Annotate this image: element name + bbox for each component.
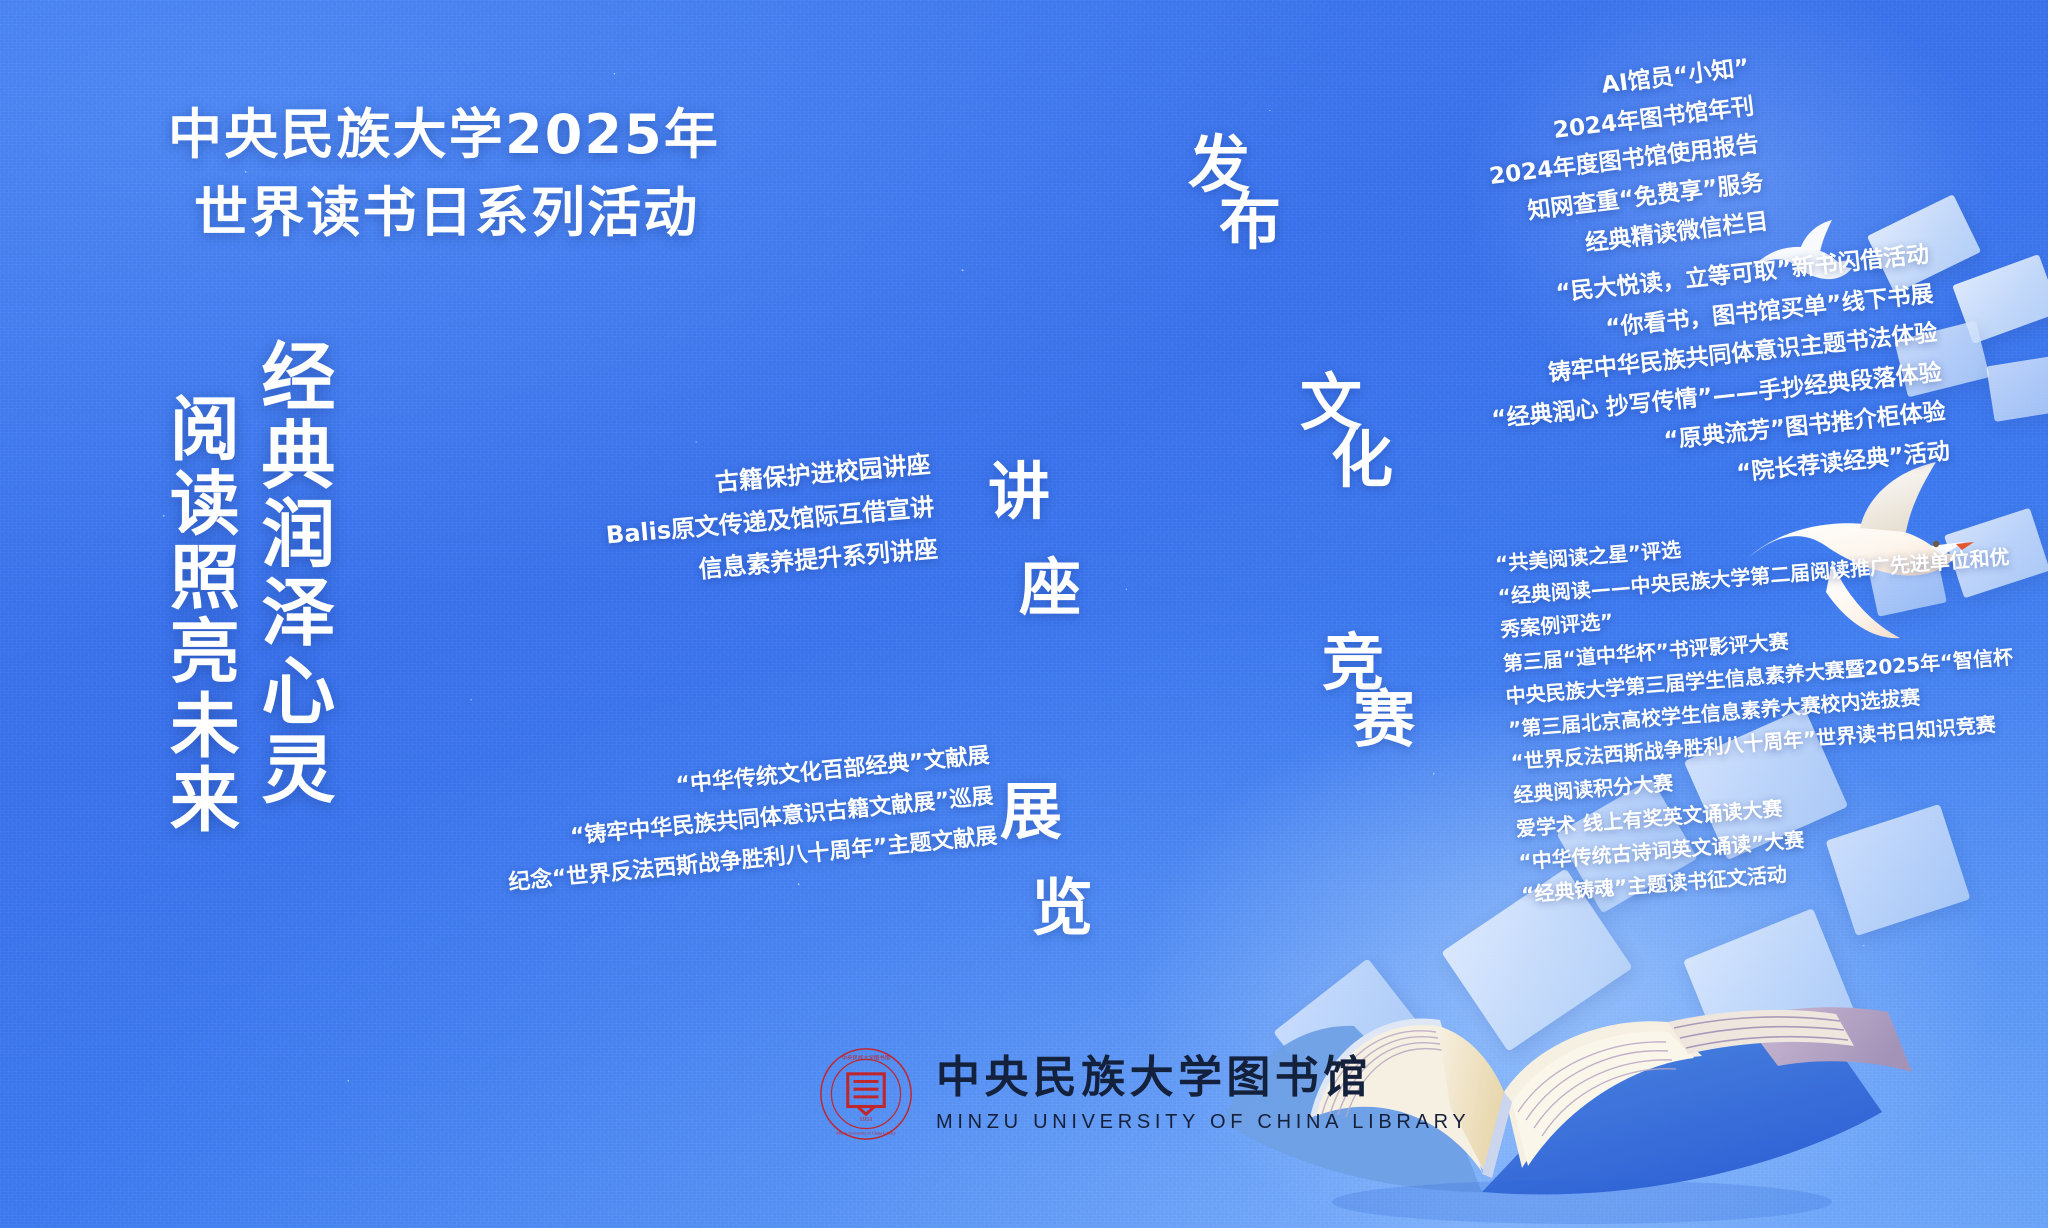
section-heading-lecture-char1: 讲 xyxy=(988,455,1051,528)
section-heading-exhibition-char2: 览 xyxy=(1031,860,1094,956)
flying-page-icon xyxy=(1986,354,2048,422)
slogan-left-column: 阅读照亮未来 xyxy=(160,392,238,837)
logo-name-cn: 中央民族大学图书馆 xyxy=(936,1054,1470,1102)
section-heading-competition: 竞 赛 xyxy=(1322,634,1416,748)
section-heading-exhibition: 展 览 xyxy=(1000,764,1094,956)
title-line-2: 世界读书日系列活动 xyxy=(194,174,720,252)
section-heading-culture: 文 化 xyxy=(1300,374,1394,488)
section-heading-exhibition-char1: 展 xyxy=(1000,775,1063,848)
section-heading-lecture-char2: 座 xyxy=(1019,540,1082,636)
slogan-right-text: 经典润泽心灵 xyxy=(249,338,335,809)
title-line-1: 中央民族大学2025年 xyxy=(168,103,720,166)
section-heading-release-char2: 布 xyxy=(1219,193,1282,250)
section-heading-lecture: 讲 座 xyxy=(988,444,1082,636)
page-title: 中央民族大学2025年 世界读书日系列活动 xyxy=(168,96,720,253)
logo-name-en: MINZU UNIVERSITY OF CHINA LIBRARY xyxy=(936,1111,1470,1134)
section-heading-competition-char2: 赛 xyxy=(1353,691,1416,748)
section-items-competition: “共美阅读之星”评选 “经典阅读——中央民族大学第二届阅读推广先进单位和优 秀案… xyxy=(1494,504,2048,912)
section-heading-release: 发 布 xyxy=(1188,136,1282,250)
university-seal-icon: 1951 中央民族大学图书馆 Minzu University of China… xyxy=(818,1046,914,1142)
library-logo: 1951 中央民族大学图书馆 Minzu University of China… xyxy=(818,1046,1470,1142)
logo-text-block: 中央民族大学图书馆 MINZU UNIVERSITY OF CHINA LIBR… xyxy=(936,1054,1470,1133)
section-heading-culture-char2: 化 xyxy=(1331,431,1394,488)
poster-canvas: 中央民族大学2025年 世界读书日系列活动 经典润泽心灵 阅读照亮未来 发 布 … xyxy=(0,0,2048,1228)
svg-text:Minzu University of China Libr: Minzu University of China Library xyxy=(836,1130,896,1135)
slogan-left-text: 阅读照亮未来 xyxy=(158,392,241,837)
seal-year: 1951 xyxy=(859,1116,872,1123)
slogan-right-column: 经典润泽心灵 xyxy=(250,338,333,809)
svg-text:中央民族大学图书馆: 中央民族大学图书馆 xyxy=(842,1053,891,1061)
